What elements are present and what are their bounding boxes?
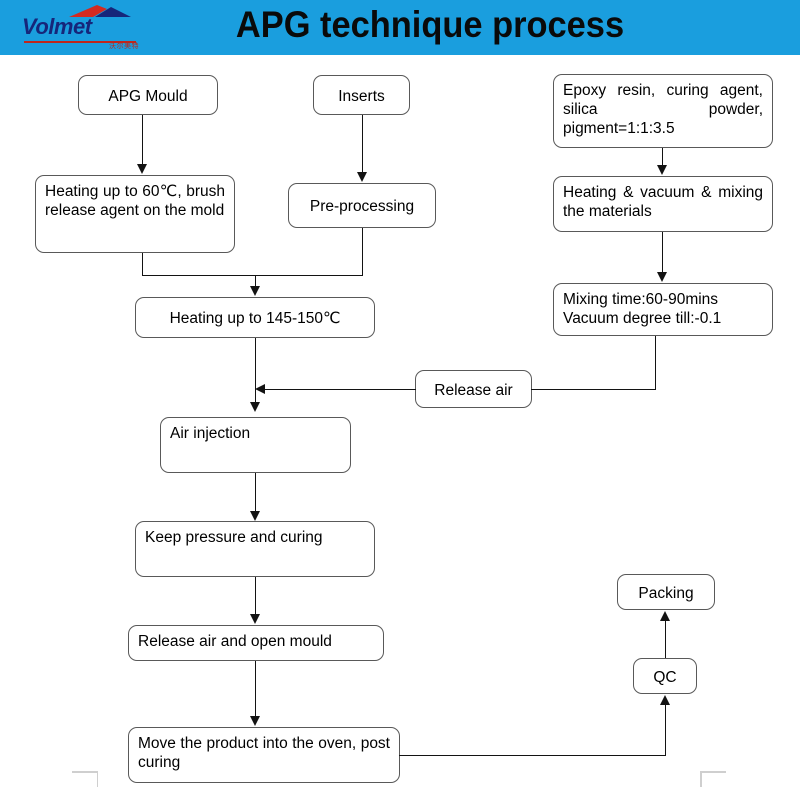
node-heating-145[interactable]: Heating up to 145-150℃ bbox=[135, 297, 375, 338]
edge-qc-to-packing bbox=[665, 620, 666, 658]
mixing-time-line-1: Mixing time:60-90mins bbox=[563, 290, 763, 309]
node-qc[interactable]: QC bbox=[633, 658, 697, 694]
node-mixing-time[interactable]: Mixing time:60-90mins Vacuum degree till… bbox=[553, 283, 773, 336]
arrowhead-packing bbox=[660, 611, 670, 621]
node-inserts[interactable]: Inserts bbox=[313, 75, 410, 115]
edge-air-injection-to-keep-pressure bbox=[255, 473, 256, 513]
mixing-time-line-2: Vacuum degree till:-0.1 bbox=[563, 309, 763, 328]
node-epoxy-resin[interactable]: Epoxy resin, curing agent, silica powder… bbox=[553, 74, 773, 148]
edge-heat-vacuum-to-mixing bbox=[662, 232, 663, 273]
node-release-open[interactable]: Release air and open mould bbox=[128, 625, 384, 661]
company-logo: Volmet 沃尔美特 bbox=[22, 2, 137, 54]
arrowhead-air-injection bbox=[250, 402, 260, 412]
node-packing[interactable]: Packing bbox=[617, 574, 715, 610]
edge-move-oven-right bbox=[399, 755, 666, 756]
edge-epoxy-to-heat-vacuum bbox=[662, 148, 663, 166]
edge-apg-mould-to-heating-60 bbox=[142, 115, 143, 165]
edge-mixing-down bbox=[655, 336, 656, 390]
flowchart-page: Volmet 沃尔美特 APG technique process APG Mo… bbox=[0, 0, 800, 800]
arrowhead-qc bbox=[660, 695, 670, 705]
logo-wordmark: Volmet bbox=[22, 16, 137, 38]
page-title: APG technique process bbox=[170, 0, 691, 55]
node-pre-processing[interactable]: Pre-processing bbox=[288, 183, 436, 228]
node-apg-mould[interactable]: APG Mould bbox=[78, 75, 218, 115]
arrowhead-heat-vacuum bbox=[657, 165, 667, 175]
node-heat-vacuum-mix[interactable]: Heating & vacuum & mixing the materials bbox=[553, 176, 773, 232]
node-release-air[interactable]: Release air bbox=[415, 370, 532, 408]
edge-pre-processing-down bbox=[362, 228, 363, 276]
edge-release-air-to-trunk bbox=[258, 389, 416, 390]
edge-heating-145-down bbox=[255, 338, 256, 408]
arrowhead-keep-pressure bbox=[250, 511, 260, 521]
edge-keep-pressure-to-release-open bbox=[255, 577, 256, 616]
arrowhead-release-open bbox=[250, 614, 260, 624]
edge-mixing-to-release-air bbox=[531, 389, 656, 390]
corner-mark-bottom-right bbox=[700, 771, 726, 787]
edge-merge-horizontal bbox=[142, 275, 363, 276]
arrowhead-trunk-join bbox=[255, 384, 265, 394]
arrowhead-mixing-time bbox=[657, 272, 667, 282]
edge-move-oven-up-to-qc bbox=[665, 705, 666, 756]
logo-subtext: 沃尔美特 bbox=[84, 42, 139, 51]
node-heating-60[interactable]: Heating up to 60℃, brush release agent o… bbox=[35, 175, 235, 253]
arrowhead-move-oven bbox=[250, 716, 260, 726]
arrowhead-heating-60 bbox=[137, 164, 147, 174]
edge-heating-60-down bbox=[142, 253, 143, 276]
node-keep-pressure[interactable]: Keep pressure and curing bbox=[135, 521, 375, 577]
edge-release-open-to-move-oven bbox=[255, 661, 256, 718]
node-air-injection[interactable]: Air injection bbox=[160, 417, 351, 473]
arrowhead-pre-processing bbox=[357, 172, 367, 182]
edge-inserts-to-pre-processing bbox=[362, 115, 363, 173]
arrowhead-heating-145 bbox=[250, 286, 260, 296]
corner-mark-bottom-left bbox=[72, 771, 98, 787]
header-banner: Volmet 沃尔美特 APG technique process bbox=[0, 0, 800, 55]
node-move-oven[interactable]: Move the product into the oven, post cur… bbox=[128, 727, 400, 783]
